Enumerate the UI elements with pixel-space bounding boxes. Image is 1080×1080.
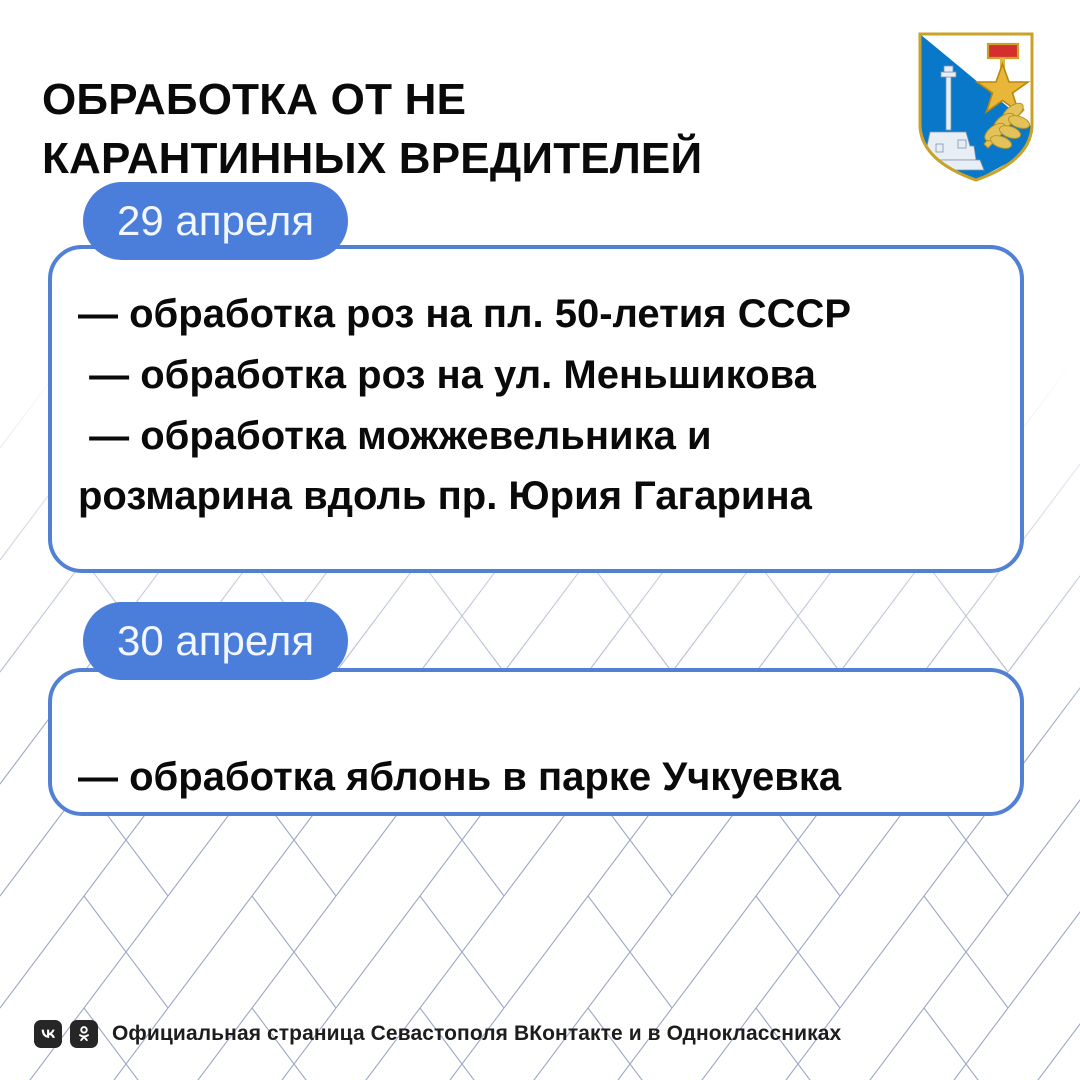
list-item: — обработка можжевельника и <box>78 406 1080 467</box>
footer-text: Официальная страница Севастополя ВКонтак… <box>112 1022 841 1046</box>
info-card-2-content: — обработка яблонь в парке Учкуевка <box>78 747 1080 808</box>
page-title-line-2: КАРАНТИННЫХ ВРЕДИТЕЛЕЙ <box>42 130 882 189</box>
page-title-line-1: ОБРАБОТКА ОТ НЕ <box>42 71 882 130</box>
page-title: ОБРАБОТКА ОТ НЕ КАРАНТИННЫХ ВРЕДИТЕЛЕЙ <box>42 71 882 189</box>
info-card-1-content: — обработка роз на пл. 50-летия СССР — о… <box>78 284 1080 527</box>
list-item: — обработка роз на пл. 50-летия СССР <box>78 284 1080 345</box>
coat-of-arms-icon <box>914 28 1038 186</box>
date-badge-1: 29 апреля <box>83 182 348 260</box>
list-item: розмарина вдоль пр. Юрия Гагарина <box>78 466 1080 527</box>
date-badge-2: 30 апреля <box>83 602 348 680</box>
ok-icon[interactable] <box>70 1020 98 1048</box>
footer: Официальная страница Севастополя ВКонтак… <box>34 1020 841 1048</box>
vk-icon[interactable] <box>34 1020 62 1048</box>
list-item: — обработка яблонь в парке Учкуевка <box>78 747 1080 808</box>
list-item: — обработка роз на ул. Меньшикова <box>78 345 1080 406</box>
poster-canvas: ОБРАБОТКА ОТ НЕ КАРАНТИННЫХ ВРЕДИТЕЛЕЙ <box>0 0 1080 1080</box>
